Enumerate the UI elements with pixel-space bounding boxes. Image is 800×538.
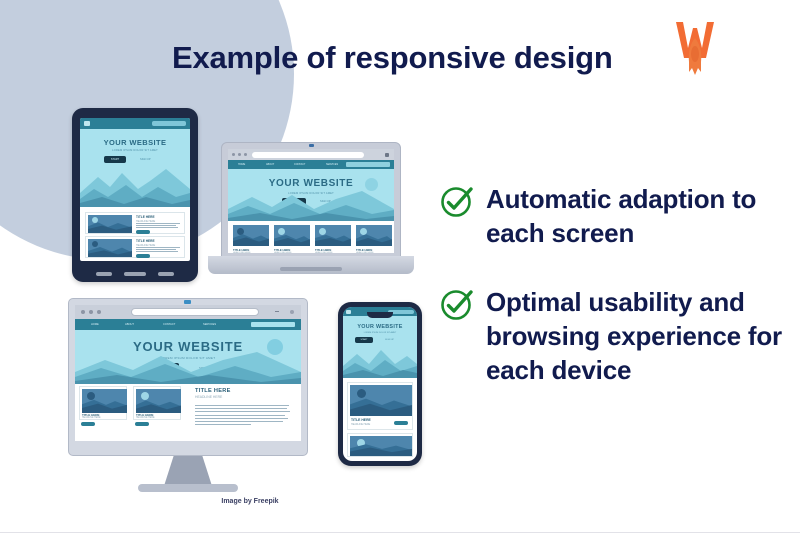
device-smartphone: YOUR WEBSITE LOREM IPSUM DOLOR SIT AMET … — [338, 302, 422, 466]
nav-item-contact[interactable]: CONTACT — [163, 323, 175, 326]
laptop-screen: HOME ABOUT CONTACT SERVICES YOUR WEBSITE… — [228, 149, 394, 253]
slide-canvas: Example of responsive design Automatic a… — [0, 0, 800, 538]
hero-title: YOUR WEBSITE — [80, 138, 190, 147]
browser-address-bar[interactable] — [131, 308, 259, 316]
section-headline: HEADLINE HERE — [195, 395, 291, 399]
browser-reload-icon[interactable] — [97, 310, 101, 314]
nav-item-services[interactable]: SERVICES — [203, 323, 216, 326]
check-circle-icon — [440, 287, 474, 321]
device-tablet: YOUR WEBSITE LOREM IPSUM DOLOR SIT AMET … — [72, 108, 198, 282]
browser-forward-icon[interactable] — [238, 153, 241, 156]
browser-back-icon[interactable] — [232, 153, 235, 156]
nav-item-about[interactable]: ABOUT — [125, 323, 134, 326]
hero-title: YOUR WEBSITE — [228, 178, 394, 189]
card-headline: HEADLINE HERE — [136, 417, 155, 419]
hero-cta-label: START — [106, 158, 124, 161]
browser-minimize-icon[interactable] — [275, 311, 279, 312]
card-headline: HEADLINE HERE — [233, 252, 269, 253]
card-image — [350, 436, 412, 456]
card-button[interactable] — [135, 422, 149, 426]
monitor-foot — [138, 484, 238, 492]
card-headline: HEADLINE HERE — [274, 252, 310, 253]
hero-title: YOUR WEBSITE — [343, 324, 417, 330]
list-item: Automatic adaption to each screen — [440, 182, 792, 251]
card-headline: HEADLINE HERE — [351, 423, 370, 426]
hero-secondary-link[interactable]: SIGN UP — [385, 339, 394, 341]
browser-close-icon[interactable] — [290, 310, 294, 314]
card-title: TITLE HERE — [136, 239, 155, 243]
nav-item-home[interactable]: HOME — [238, 163, 245, 166]
browser-back-icon[interactable] — [81, 310, 85, 314]
card-headline: HEADLINE HERE — [315, 252, 351, 253]
laptop-trackpad[interactable] — [280, 267, 342, 271]
site-search-input[interactable] — [346, 162, 390, 167]
card-headline: HEADLINE HERE — [356, 252, 392, 253]
hamburger-icon[interactable] — [346, 310, 351, 314]
browser-address-bar[interactable] — [252, 152, 364, 158]
monitor-neck — [164, 456, 212, 486]
card-image — [274, 225, 310, 246]
benefits-list: Automatic adaption to each screen Optima… — [440, 182, 792, 414]
site-search-input[interactable] — [251, 322, 295, 327]
card-headline: HEADLINE HERE — [82, 417, 101, 419]
nav-item-about[interactable]: ABOUT — [266, 163, 274, 166]
nav-item-contact[interactable]: CONTACT — [294, 163, 305, 166]
search-input[interactable] — [152, 121, 186, 126]
monitor-screen: HOME ABOUT CONTACT SERVICES YOUR WEBSITE… — [75, 305, 301, 441]
list-item-label: Optimal usability and browsing experienc… — [486, 285, 792, 388]
card-button[interactable] — [81, 422, 95, 426]
laptop-base — [208, 256, 414, 274]
tablet-nav-button[interactable] — [96, 272, 112, 276]
tablet-back-button[interactable] — [158, 272, 174, 276]
image-credit: Image by Freepik — [0, 498, 500, 505]
card-image — [315, 225, 351, 246]
card-image — [136, 389, 181, 413]
hero-subtitle: LOREM IPSUM DOLOR SIT AMET — [80, 149, 190, 152]
browser-forward-icon[interactable] — [89, 310, 93, 314]
tablet-screen: YOUR WEBSITE LOREM IPSUM DOLOR SIT AMET … — [80, 118, 190, 261]
phone-screen: YOUR WEBSITE LOREM IPSUM DOLOR SIT AMET … — [343, 307, 417, 461]
card-image — [88, 215, 132, 233]
card-image — [356, 225, 392, 246]
browser-menu-icon[interactable] — [385, 153, 389, 157]
device-laptop: HOME ABOUT CONTACT SERVICES YOUR WEBSITE… — [208, 142, 414, 282]
browser-reload-icon[interactable] — [244, 153, 247, 156]
card-button[interactable] — [394, 421, 408, 425]
check-circle-icon — [440, 184, 474, 218]
nav-item-services[interactable]: SERVICES — [326, 163, 338, 166]
card-title: TITLE HERE — [136, 215, 155, 219]
wp-rocket-logo — [672, 18, 718, 80]
card-image — [350, 385, 412, 416]
list-item-label: Automatic adaption to each screen — [486, 182, 792, 251]
webcam-icon — [309, 144, 314, 147]
card-image — [82, 389, 127, 413]
phone-notch — [367, 312, 393, 318]
card-image — [88, 239, 132, 257]
card-button[interactable] — [136, 230, 150, 234]
hero-subtitle: LOREM IPSUM DOLOR SIT AMET — [343, 332, 417, 334]
hamburger-icon[interactable] — [84, 121, 90, 126]
hero-secondary-link[interactable]: SIGN UP — [140, 158, 151, 161]
webcam-icon — [184, 300, 191, 304]
hero-cta-label: START — [356, 339, 372, 341]
card-image — [233, 225, 269, 246]
card-button[interactable] — [136, 254, 150, 258]
footer-divider — [0, 532, 800, 533]
page-title: Example of responsive design — [172, 40, 613, 76]
device-desktop-monitor: HOME ABOUT CONTACT SERVICES YOUR WEBSITE… — [68, 298, 308, 498]
card-title: TITLE HERE — [351, 418, 371, 422]
section-title: TITLE HERE — [195, 388, 291, 394]
tablet-home-button[interactable] — [124, 272, 146, 276]
list-item: Optimal usability and browsing experienc… — [440, 285, 792, 388]
nav-item-home[interactable]: HOME — [91, 323, 99, 326]
